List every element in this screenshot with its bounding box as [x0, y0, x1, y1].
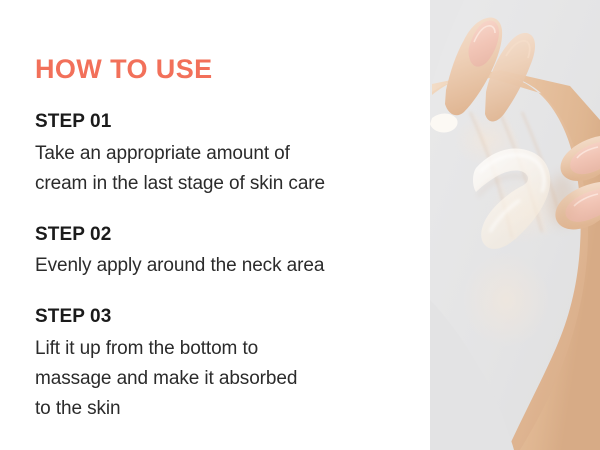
step-description: Lift it up from the bottom to massage an… [35, 334, 415, 424]
hand-photo-illustration [430, 0, 600, 450]
page-title: HOW TO USE [35, 56, 213, 83]
instructions-panel: HOW TO USE STEP 01 Take an appropriate a… [0, 0, 430, 450]
list-item: STEP 02 Evenly apply around the neck are… [35, 221, 415, 282]
step-label: STEP 01 [35, 108, 415, 136]
step-label: STEP 02 [35, 221, 415, 249]
step-label: STEP 03 [35, 303, 415, 331]
step-description: Take an appropriate amount of cream in t… [35, 139, 415, 199]
step-description: Evenly apply around the neck area [35, 251, 415, 281]
list-item: STEP 03 Lift it up from the bottom to ma… [35, 303, 415, 424]
steps-list: STEP 01 Take an appropriate amount of cr… [35, 108, 415, 424]
list-item: STEP 01 Take an appropriate amount of cr… [35, 108, 415, 199]
hand-applying-cream-photo [430, 0, 600, 450]
how-to-use-banner: HOW TO USE STEP 01 Take an appropriate a… [0, 0, 600, 450]
